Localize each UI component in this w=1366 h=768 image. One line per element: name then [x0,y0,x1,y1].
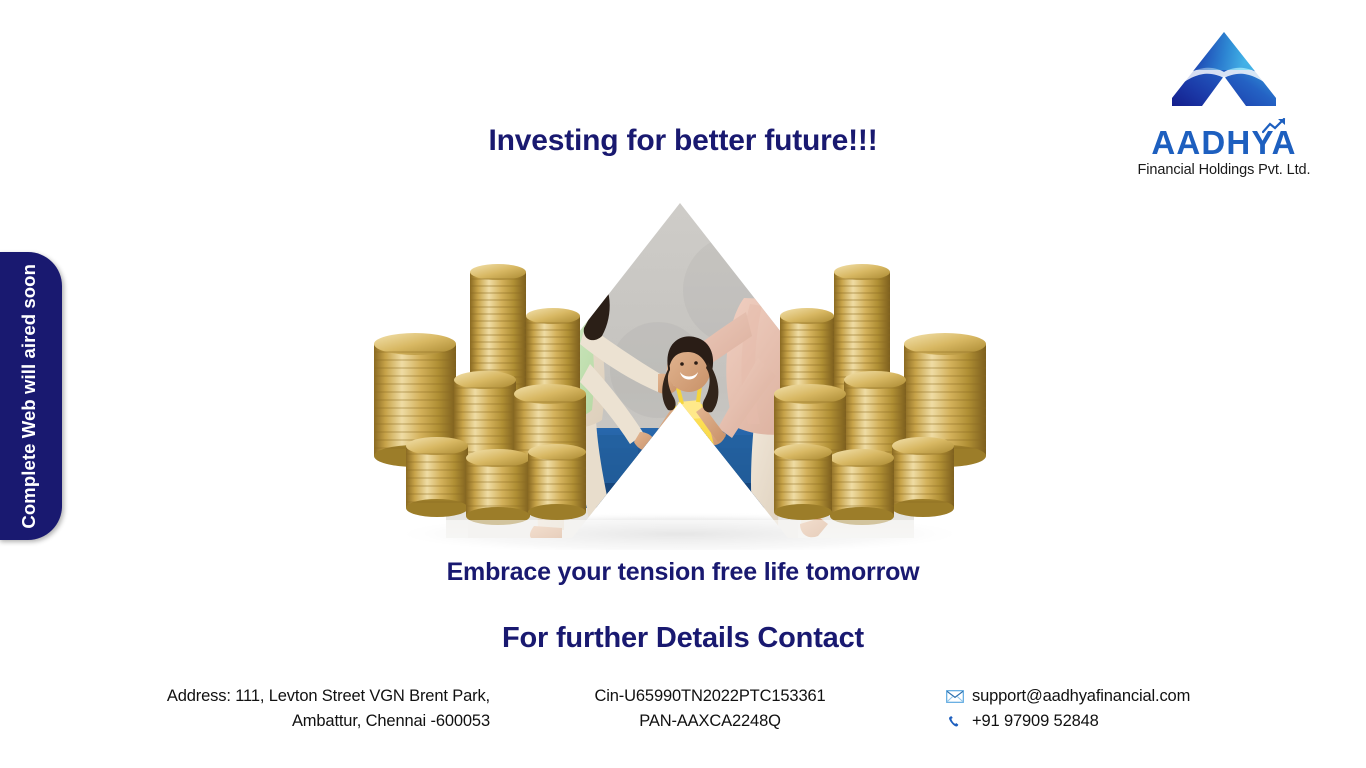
phone-icon [946,715,964,729]
subheadline-text: Embrace your tension free life tomorrow [0,558,1366,587]
phone-number: +91 97909 52848 [972,709,1099,734]
pan-number: PAN-AAXCA2248Q [560,709,860,734]
footer: Address: 111, Levton Street VGN Brent Pa… [0,684,1366,754]
logo-tagline: Financial Holdings Pvt. Ltd. [1134,162,1314,178]
contact-heading-text: For further Details Contact [0,622,1366,655]
address-line-2: Ambattur, Chennai -600053 [130,709,490,734]
side-ribbon-label: Complete Web will aired soon [18,264,42,529]
hero-artwork-svg [358,190,1008,550]
cin-number: Cin-U65990TN2022PTC153361 [560,684,860,709]
poster-canvas: Complete Web will aired soon [0,0,1366,768]
email-line[interactable]: support@aadhyafinancial.com [946,684,1266,709]
address-line-1: Address: 111, Levton Street VGN Brent Pa… [130,684,490,709]
email-address: support@aadhyafinancial.com [972,684,1190,709]
hero-artwork [358,190,1008,550]
footer-contact-block: support@aadhyafinancial.com +91 97909 52… [946,684,1266,734]
side-ribbon-tab[interactable]: Complete Web will aired soon [0,252,62,540]
footer-registration-block: Cin-U65990TN2022PTC153361 PAN-AAXCA2248Q [560,684,860,734]
envelope-icon [946,690,964,704]
headline-text: Investing for better future!!! [0,124,1366,158]
footer-address-block: Address: 111, Levton Street VGN Brent Pa… [130,684,490,734]
gold-coin-stacks-right [774,264,986,525]
phone-line[interactable]: +91 97909 52848 [946,709,1266,734]
gold-coin-stacks-left [374,264,586,525]
upward-arrow-chevron-icon [1168,28,1280,124]
